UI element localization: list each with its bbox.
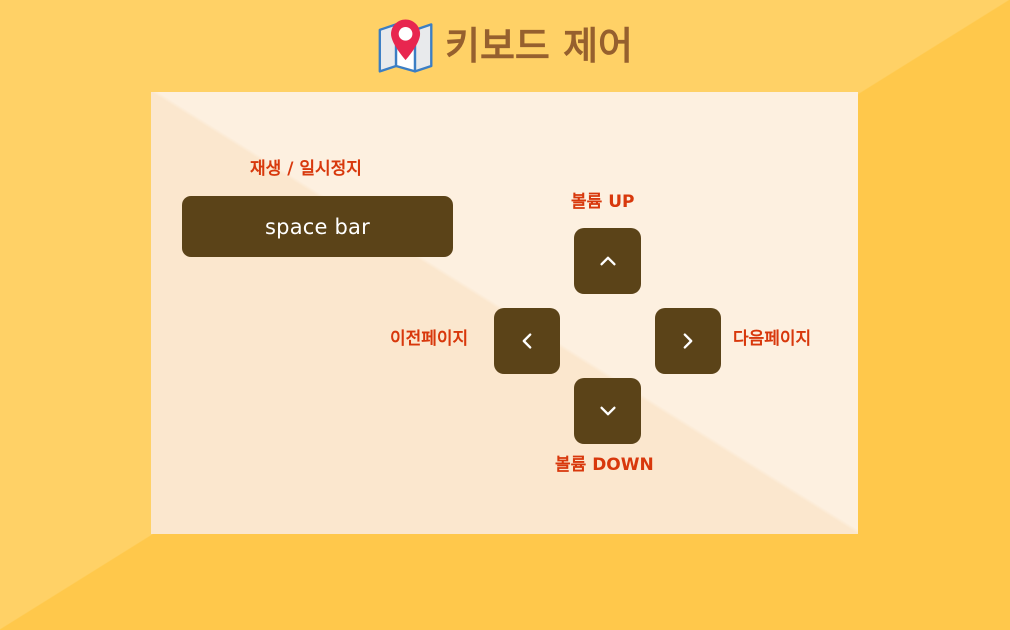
key-space-bar[interactable]: space bar	[182, 196, 453, 257]
world-map-pin-icon	[377, 19, 435, 75]
key-arrow-left[interactable]	[494, 308, 560, 374]
chevron-down-icon	[597, 400, 619, 422]
chevron-left-icon	[516, 330, 538, 352]
page-header: 키보드 제어	[0, 0, 1010, 92]
chevron-right-icon	[677, 330, 699, 352]
page-title: 키보드 제어	[445, 27, 633, 65]
label-play-pause: 재생 / 일시정지	[250, 161, 362, 178]
key-arrow-up[interactable]	[574, 228, 641, 294]
chevron-up-icon	[597, 250, 619, 272]
key-arrow-down[interactable]	[574, 378, 641, 444]
key-arrow-right[interactable]	[655, 308, 721, 374]
label-volume-up: 볼륨 UP	[571, 194, 634, 211]
label-next-page: 다음페이지	[733, 331, 811, 348]
label-volume-down: 볼륨 DOWN	[555, 457, 654, 474]
label-prev-page: 이전페이지	[390, 331, 468, 348]
